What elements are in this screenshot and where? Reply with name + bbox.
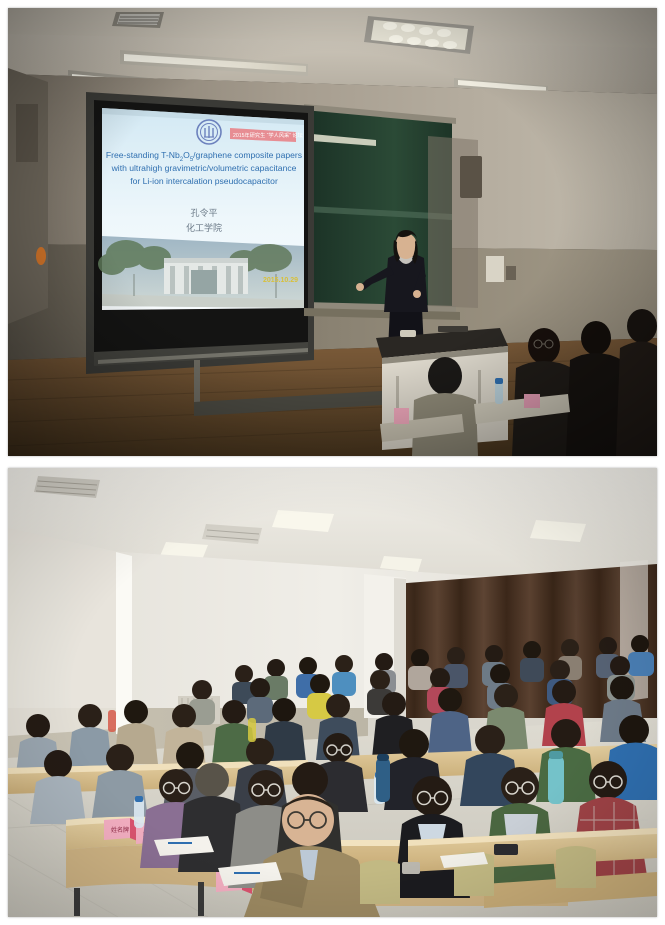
photo-lecture-presenter-canvas: 2015年研究生 “学人风采” 论坛 Free-standing T-Nb2O5…: [8, 8, 657, 456]
lecture-scene-svg: 2015年研究生 “学人风采” 论坛 Free-standing T-Nb2O5…: [8, 8, 657, 456]
photo-vignette-2: [8, 468, 657, 917]
photo-audience-canvas: 姓名牌 姓名牌 姓名牌 姓名牌: [8, 468, 657, 917]
audience-scene-svg: 姓名牌 姓名牌 姓名牌 姓名牌: [8, 468, 657, 917]
photo-lecture-presenter: 2015年研究生 “学人风采” 论坛 Free-standing T-Nb2O5…: [8, 8, 657, 456]
photo-vignette: [8, 8, 657, 456]
photo-audience: 姓名牌 姓名牌 姓名牌 姓名牌: [8, 468, 657, 917]
photo-page: 2015年研究生 “学人风采” 论坛 Free-standing T-Nb2O5…: [0, 0, 665, 925]
